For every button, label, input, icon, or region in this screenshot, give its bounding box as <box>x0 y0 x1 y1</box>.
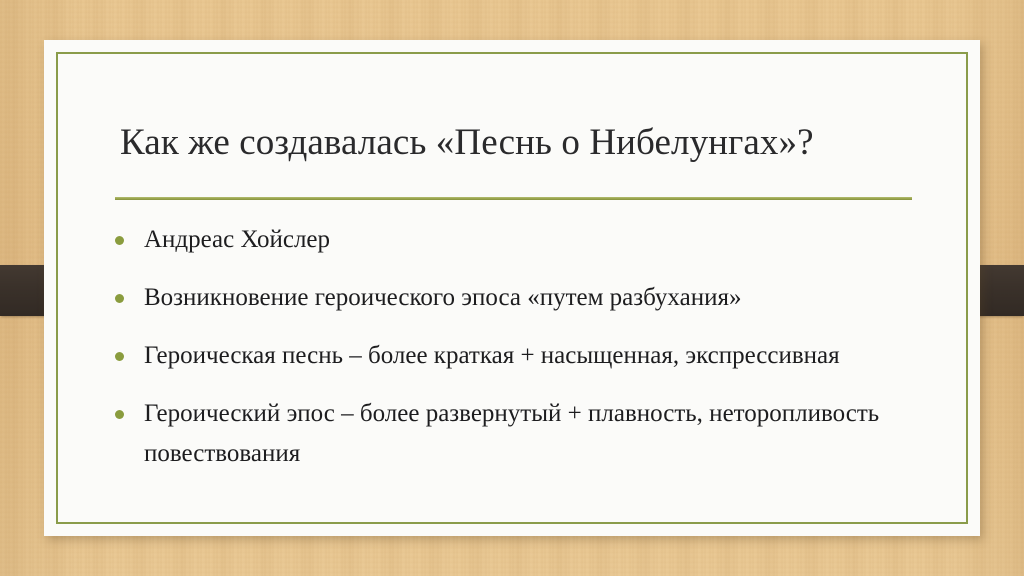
list-item: Андреас Хойслер <box>106 220 906 260</box>
bullet-dot-icon <box>115 410 124 419</box>
title-divider-rule <box>115 197 912 200</box>
list-item: Возникновение героического эпоса «путем … <box>106 278 906 318</box>
bullet-dot-icon <box>115 294 124 303</box>
list-item-text: Героическая песнь – более краткая + насы… <box>144 336 906 376</box>
bullet-dot-icon <box>115 352 124 361</box>
list-item-text: Героический эпос – более развернутый + п… <box>144 394 906 474</box>
bullet-list: Андреас Хойслер Возникновение героическо… <box>106 220 906 474</box>
list-item-text: Возникновение героического эпоса «путем … <box>144 278 906 318</box>
slide-card: Как же создавалась «Песнь о Нибелунгах»?… <box>44 40 980 536</box>
list-item-text: Андреас Хойслер <box>144 220 906 260</box>
slide-content: Как же создавалась «Песнь о Нибелунгах»?… <box>44 40 980 536</box>
list-item: Героический эпос – более развернутый + п… <box>106 394 906 474</box>
slide-title: Как же создавалась «Песнь о Нибелунгах»? <box>120 120 920 166</box>
slide: Как же создавалась «Песнь о Нибелунгах»?… <box>0 0 1024 576</box>
list-item: Героическая песнь – более краткая + насы… <box>106 336 906 376</box>
bullet-dot-icon <box>115 236 124 245</box>
